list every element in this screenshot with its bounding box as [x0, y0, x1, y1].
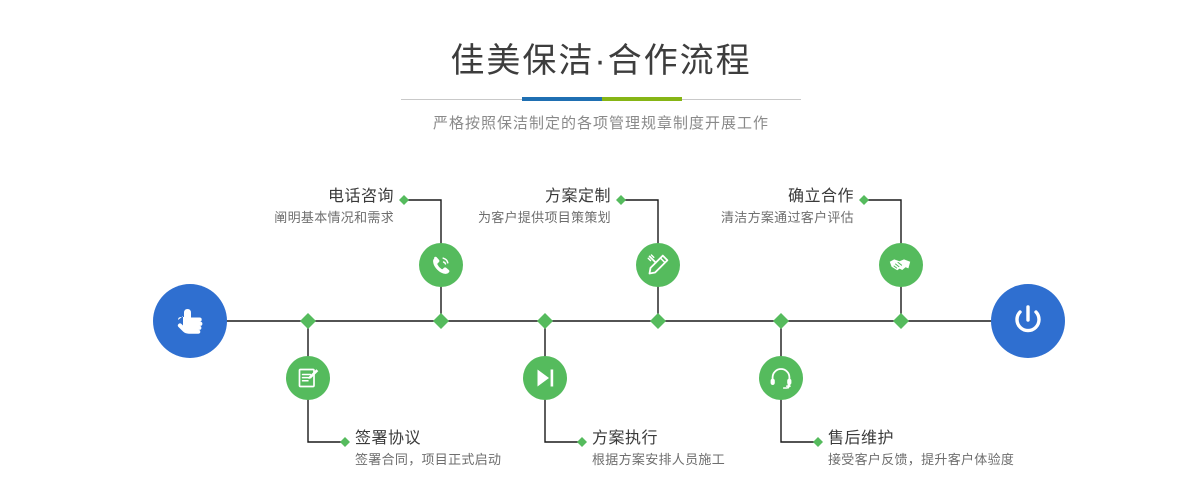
step-label-4[interactable]: 方案执行 根据方案安排人员施工: [592, 428, 852, 470]
step-desc-5: 清洁方案通过客户评估: [634, 208, 854, 228]
step-desc-3: 为客户提供项目策策划: [391, 208, 611, 228]
pointing-hand-icon: [170, 301, 210, 341]
step-title-1: 电话咨询: [154, 186, 394, 208]
power-icon: [1008, 301, 1048, 341]
step-title-6: 售后维护: [828, 428, 1128, 450]
headset-support-icon: [768, 365, 794, 391]
phone-ring-icon: [428, 252, 454, 278]
step-icon-1[interactable]: [419, 243, 463, 287]
handshake-icon: [888, 252, 914, 278]
step-icon-2[interactable]: [286, 356, 330, 400]
flow-connector-lines: [0, 0, 1202, 502]
document-edit-icon: [295, 365, 321, 391]
step-title-4: 方案执行: [592, 428, 852, 450]
pencil-ruler-icon: [645, 252, 671, 278]
step-label-5[interactable]: 确立合作 清洁方案通过客户评估: [634, 186, 854, 228]
step-desc-6: 接受客户反馈，提升客户体验度: [828, 450, 1128, 470]
step-title-5: 确立合作: [634, 186, 854, 208]
step-title-2: 签署协议: [355, 428, 615, 450]
step-label-1[interactable]: 电话咨询 阐明基本情况和需求: [154, 186, 394, 228]
step-icon-5[interactable]: [879, 243, 923, 287]
step-label-2[interactable]: 签署协议 签署合同，项目正式启动: [355, 428, 615, 470]
step-icon-6[interactable]: [759, 356, 803, 400]
play-skip-icon: [532, 365, 558, 391]
flow-start-node[interactable]: [153, 284, 227, 358]
step-desc-1: 阐明基本情况和需求: [154, 208, 394, 228]
step-icon-3[interactable]: [636, 243, 680, 287]
step-icon-4[interactable]: [523, 356, 567, 400]
flow-end-node[interactable]: [991, 284, 1065, 358]
step-label-6[interactable]: 售后维护 接受客户反馈，提升客户体验度: [828, 428, 1128, 470]
step-desc-2: 签署合同，项目正式启动: [355, 450, 615, 470]
step-title-3: 方案定制: [391, 186, 611, 208]
step-desc-4: 根据方案安排人员施工: [592, 450, 852, 470]
process-flow-diagram: 电话咨询 阐明基本情况和需求 方案定制 为客户提供项目策策划 确立合作 清洁方案…: [0, 0, 1202, 502]
step-label-3[interactable]: 方案定制 为客户提供项目策策划: [391, 186, 611, 228]
